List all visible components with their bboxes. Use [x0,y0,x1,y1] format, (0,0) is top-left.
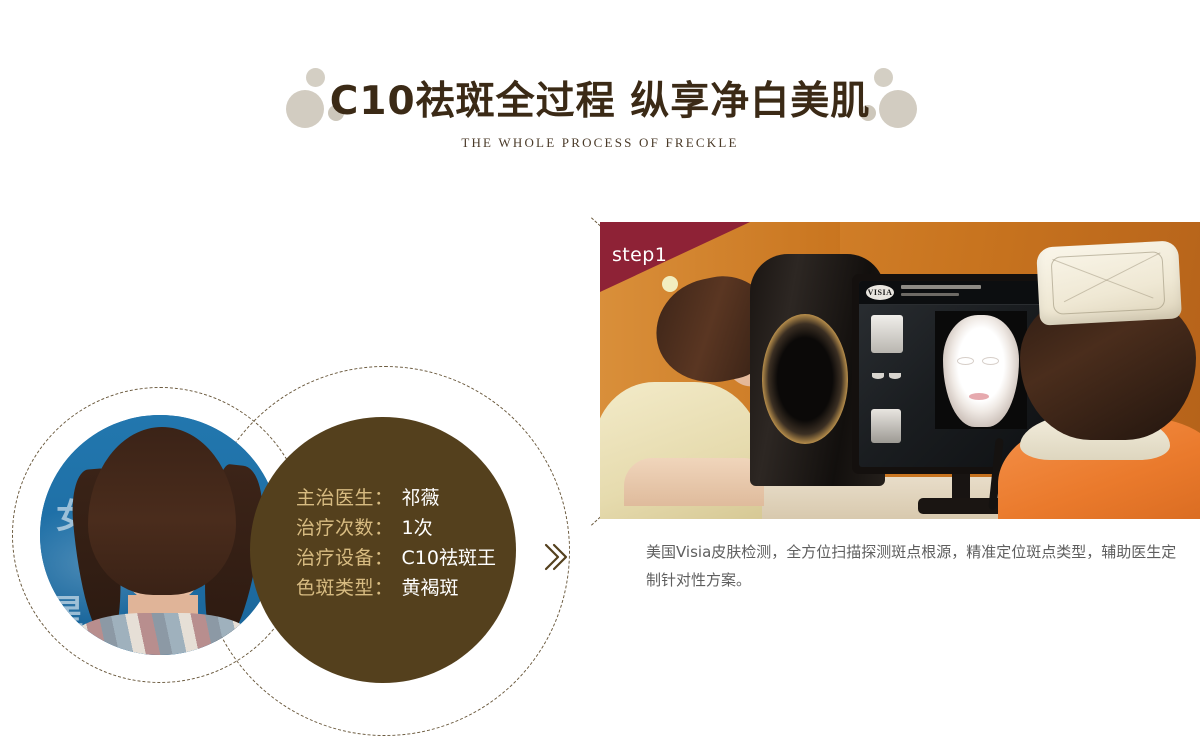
visia-thumbnail-top [871,315,903,353]
treatment-info-list: 主治医生： 祁薇 治疗次数： 1次 治疗设备： C10祛斑王 色斑类型： 黄褐斑 [296,483,526,603]
patient-scarf [68,613,258,655]
treatment-info-circle: 主治医生： 祁薇 治疗次数： 1次 治疗设备： C10祛斑王 色斑类型： 黄褐斑 [250,417,516,683]
page-subtitle: THE WHOLE PROCESS OF FRECKLE [0,134,1200,152]
info-value-device: C10祛斑王 [402,543,496,570]
scanned-face-mouth [969,393,989,400]
step1-photo: VISIA step1 [600,222,1200,519]
scanned-face-eye-left [957,357,974,365]
visia-logo: VISIA [866,285,894,300]
photo-nurse-cap [1036,240,1182,325]
step-badge-label: step1 [612,244,667,266]
scanned-face-eye-right [982,357,999,365]
patient-card-section: 女 星 st 主治医生： 祁薇 治疗次数： 1次 治疗设备 [0,180,600,580]
table-row: 色斑类型： 黄褐斑 [296,573,526,603]
info-label-sessions: 治疗次数： [296,513,394,540]
info-value-spot-type: 黄褐斑 [402,573,459,600]
info-label-doctor: 主治医生： [296,483,394,510]
info-value-doctor: 祁薇 [402,483,440,510]
visia-icon-left [872,373,884,379]
info-label-device: 治疗设备： [296,543,394,570]
nurse-cap-fold-outline [1051,251,1166,315]
patient-before-photo: 女 星 st [40,415,280,655]
table-row: 治疗设备： C10祛斑王 [296,543,526,573]
info-value-sessions: 1次 [402,513,433,540]
double-chevron-right-icon [541,540,571,574]
visia-header-text-line2 [901,293,959,296]
visia-face-scan-image [935,311,1027,429]
visia-face-port [762,314,848,444]
info-label-spot-type: 色斑类型： [296,573,394,600]
page-header: C10祛斑全过程 纵享净白美肌 THE WHOLE PROCESS OF FRE… [0,0,1200,175]
table-row: 主治医生： 祁薇 [296,483,526,513]
visia-icon-right [889,373,901,379]
photo-patient-arm [624,458,764,506]
photo-patient-hairclip [662,276,678,292]
table-row: 治疗次数： 1次 [296,513,526,543]
visia-header-text-line1 [901,285,981,289]
step1-caption: 美国Visia皮肤检测，全方位扫描探测斑点根源，精准定位斑点类型，辅助医生定制针… [646,538,1186,594]
scanned-face [943,315,1019,427]
visia-thumbnail-bottom [871,409,901,443]
page-title: C10祛斑全过程 纵享净白美肌 [0,78,1200,126]
